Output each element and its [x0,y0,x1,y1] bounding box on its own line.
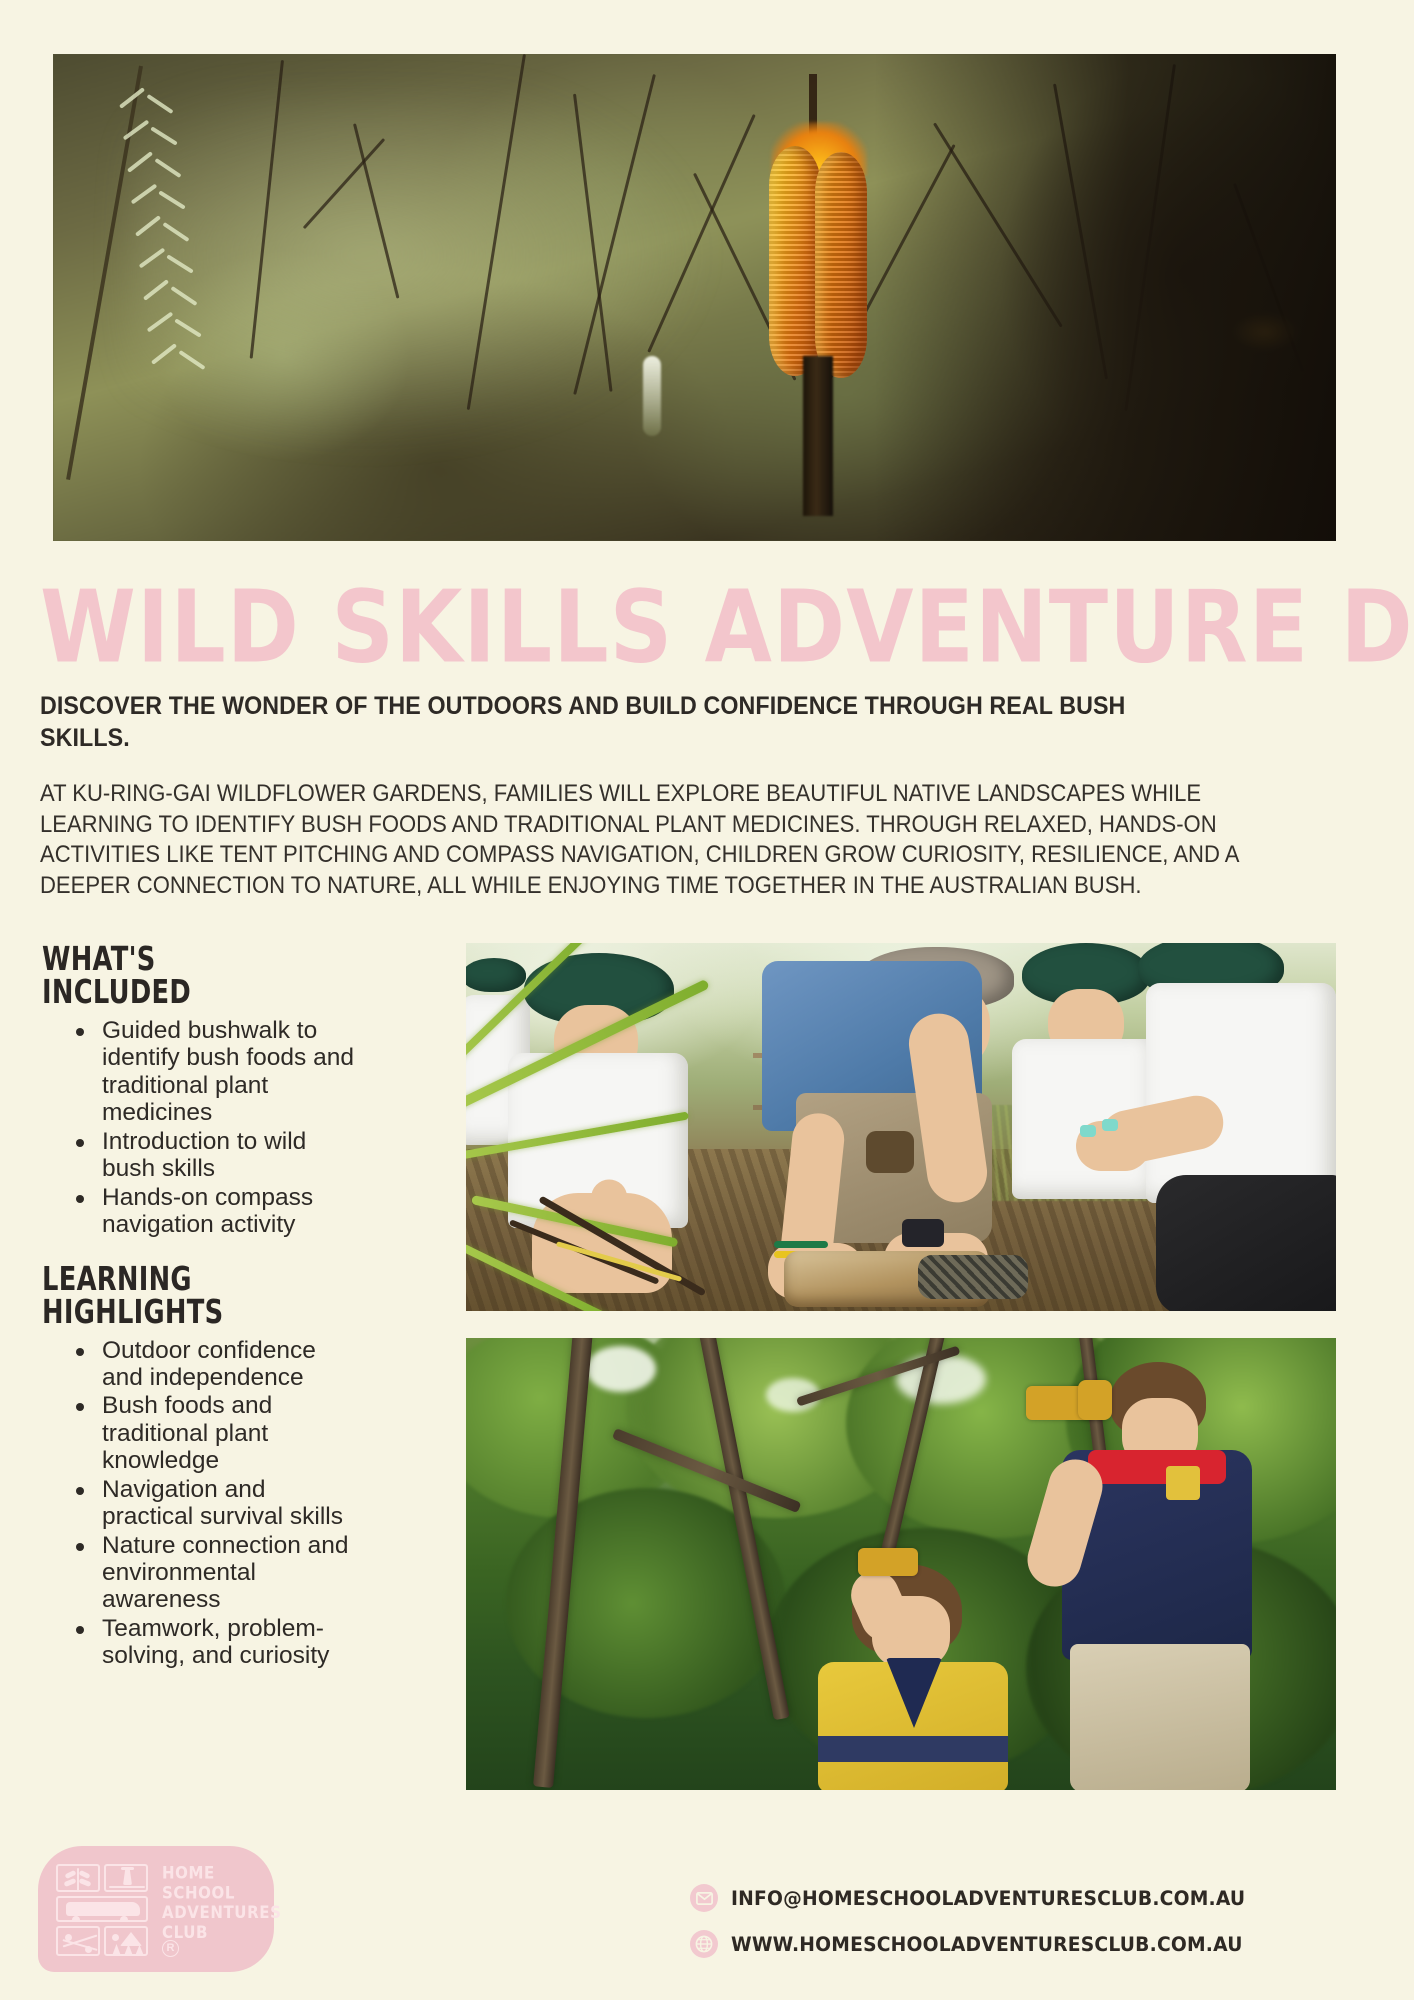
left-content-column: WHAT'S INCLUDED Guided bushwalk to ident… [42,943,360,1671]
list-item: Outdoor confidence and independence [72,1337,360,1392]
page-title: WILD SKILLS ADVENTURE DAY [40,582,1414,674]
contact-website-row[interactable]: WWW.HOMESCHOOLADVENTURESCLUB.COM.AU [690,1930,1267,1958]
photo-children-with-ranger [466,943,1336,1311]
section-heading-whats-included: WHAT'S INCLUDED [42,943,335,1009]
hero-photo [53,54,1336,541]
list-item: Nature connection and environmental awar… [72,1532,360,1614]
lighthouse-icon [104,1864,148,1892]
contact-email-row[interactable]: INFO@HOMESCHOOLADVENTURESCLUB.COM.AU [690,1884,1267,1912]
globe-icon [690,1930,718,1958]
list-item: Navigation and practical survival skills [72,1476,360,1531]
body-paragraph: AT KU-RING-GAI WILDFLOWER GARDENS, FAMIL… [40,779,1264,902]
list-item: Introduction to wild bush skills [72,1128,360,1183]
list-item: Bush foods and traditional plant knowled… [72,1392,360,1474]
logo-icon-grid [56,1864,152,1956]
photo-boys-with-binoculars [466,1338,1336,1790]
hero-shadow-overlay [874,54,1336,541]
section-heading-learning-highlights: LEARNING HIGHLIGHTS [42,1263,335,1329]
list-item: Guided bushwalk to identify bush foods a… [72,1017,360,1127]
brand-logo[interactable]: HOME SCHOOL ADVENTURES CLUB R [38,1846,274,1972]
website-url: WWW.HOMESCHOOLADVENTURESCLUB.COM.AU [731,1933,1243,1956]
envelope-icon [690,1884,718,1912]
banksia-flower-graphic [763,146,883,396]
map-route-icon [56,1926,100,1956]
white-bud-graphic [643,356,661,436]
list-item: Hands-on compass navigation activity [72,1184,360,1239]
whats-included-list: Guided bushwalk to identify bush foods a… [72,1017,360,1239]
learning-highlights-list: Outdoor confidence and independence Bush… [72,1337,360,1670]
mountain-trees-icon [104,1926,148,1956]
logo-wordmark: HOME SCHOOL ADVENTURES CLUB [162,1864,281,1943]
subheading: DISCOVER THE WONDER OF THE OUTDOORS AND … [40,690,1212,754]
email-address: INFO@HOMESCHOOLADVENTURESCLUB.COM.AU [731,1887,1245,1910]
list-item: Teamwork, problem-solving, and curiosity [72,1615,360,1670]
contact-block: INFO@HOMESCHOOLADVENTURESCLUB.COM.AU WWW… [690,1884,1267,1958]
needle-branch-graphic [79,66,229,486]
school-bus-icon [56,1896,148,1922]
leaf-icon [56,1864,100,1892]
registered-trademark-icon: R [162,1940,179,1957]
poster-canvas: WILD SKILLS ADVENTURE DAY DISCOVER THE W… [0,0,1414,2000]
